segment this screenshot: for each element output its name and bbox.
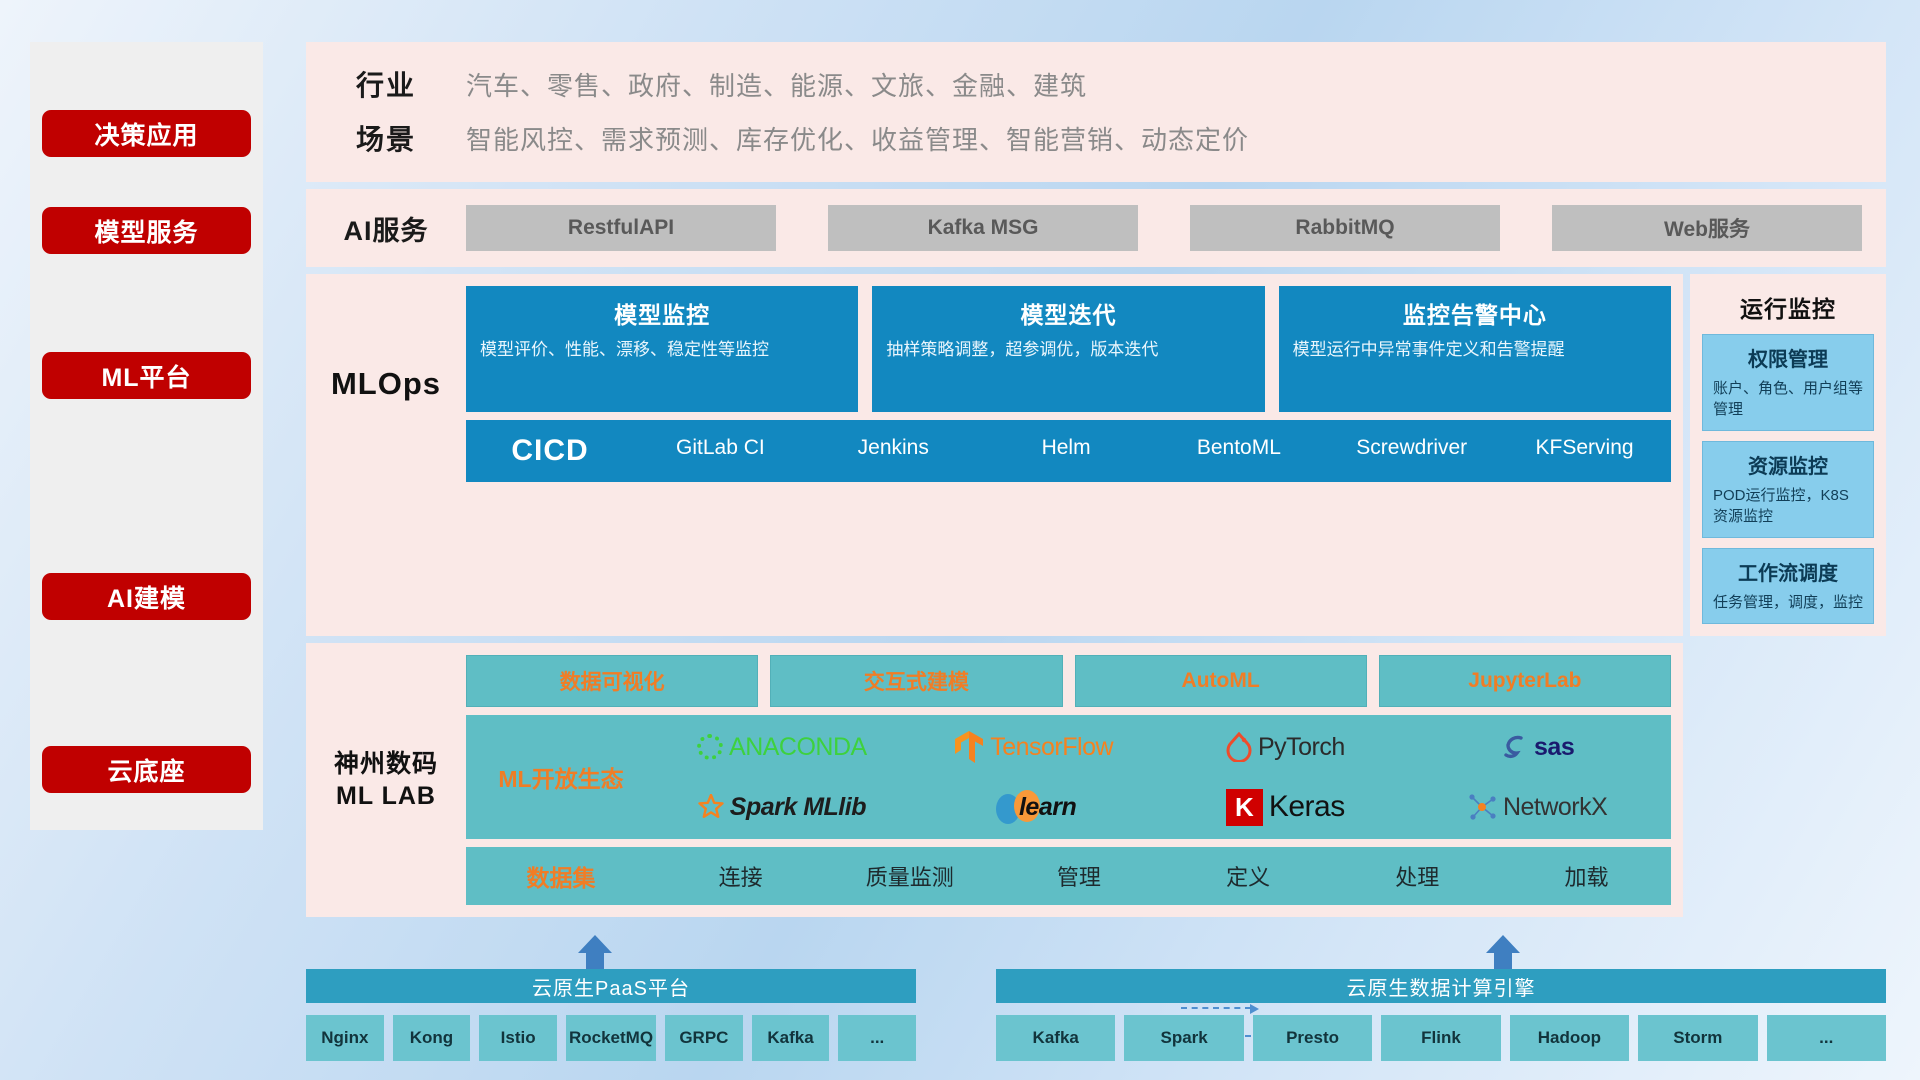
ai-service-chip-restfulapi[interactable]: RestfulAPI xyxy=(466,205,776,251)
monitor-card-resource[interactable]: 资源监控 POD运行监控，K8S资源监控 xyxy=(1702,441,1874,538)
ai-service-label: AI服务 xyxy=(306,209,466,248)
scenario-label: 场景 xyxy=(306,118,466,158)
networkx-graph-icon xyxy=(1467,792,1497,822)
monitor-column-spacer xyxy=(1690,643,1886,917)
rail-chip-decision-app[interactable]: 决策应用 xyxy=(42,110,251,157)
ai-service-band: AI服务 RestfulAPI Kafka MSG RabbitMQ Web服务 xyxy=(306,189,1886,267)
architecture-main: 行业 汽车、零售、政府、制造、能源、文旅、金融、建筑 场景 智能风控、需求预测、… xyxy=(306,42,1886,1075)
rail-chip-cloud-base[interactable]: 云底座 xyxy=(42,746,251,793)
cloud-chip-rocketmq[interactable]: RocketMQ xyxy=(566,1015,656,1061)
cicd-item-gitlab-ci[interactable]: GitLab CI xyxy=(634,420,807,462)
scikit-learn-logo: learn xyxy=(908,778,1160,836)
cloud-compute-group: 云原生数据计算引擎 Kafka Spark Presto Flink Hadoo… xyxy=(996,969,1886,1061)
anaconda-logo-text: ANACONDA xyxy=(729,733,867,762)
tensorflow-logo-text: TensorFlow xyxy=(990,733,1113,762)
ai-service-chip-rabbitmq[interactable]: RabbitMQ xyxy=(1190,205,1500,251)
ml-ecosystem-row: ML开放生态 ANACONDA Ten xyxy=(466,715,1671,839)
arrow-head xyxy=(578,935,612,953)
anaconda-logo: ANACONDA xyxy=(656,718,908,776)
runtime-monitor-band: 运行监控 权限管理 账户、角色、用户组等管理 资源监控 POD运行监控，K8S资… xyxy=(1690,274,1886,636)
dataset-label: 数据集 xyxy=(466,859,656,893)
decision-app-band: 行业 汽车、零售、政府、制造、能源、文旅、金融、建筑 场景 智能风控、需求预测、… xyxy=(306,42,1886,182)
mlops-card-alert-center[interactable]: 监控告警中心 模型运行中异常事件定义和告警提醒 xyxy=(1279,286,1671,412)
card-desc: POD运行监控，K8S资源监控 xyxy=(1713,485,1863,527)
cicd-bar: CICD GitLab CI Jenkins Helm BentoML Scre… xyxy=(466,420,1671,482)
dataset-item-quality-monitor[interactable]: 质量监测 xyxy=(825,860,994,892)
monitor-title: 运行监控 xyxy=(1702,284,1874,334)
ai-service-chip-kafka-msg[interactable]: Kafka MSG xyxy=(828,205,1138,251)
mlops-label: MLOps xyxy=(306,286,466,482)
cicd-item-kfserving[interactable]: KFServing xyxy=(1498,420,1671,462)
tensorflow-logo: TensorFlow xyxy=(908,718,1160,776)
keras-k-icon: K xyxy=(1226,789,1263,826)
card-title: 工作流调度 xyxy=(1713,557,1863,586)
ai-service-items: RestfulAPI Kafka MSG RabbitMQ Web服务 xyxy=(466,205,1886,251)
ml-lab-band: 神州数码 ML LAB 数据可视化 交互式建模 AutoML JupyterLa… xyxy=(306,643,1683,917)
sas-logo-text: sas xyxy=(1534,733,1574,762)
pytorch-flame-icon xyxy=(1226,732,1252,762)
dataset-item-process[interactable]: 处理 xyxy=(1333,860,1502,892)
mlops-card-model-monitoring[interactable]: 模型监控 模型评价、性能、漂移、稳定性等监控 xyxy=(466,286,858,412)
pytorch-logo: PyTorch xyxy=(1160,718,1412,776)
dataset-item-define[interactable]: 定义 xyxy=(1164,860,1333,892)
card-title: 监控告警中心 xyxy=(1293,296,1657,330)
spark-mllib-logo: Spark MLlib xyxy=(656,778,908,836)
card-desc: 任务管理，调度，监控 xyxy=(1713,592,1863,613)
tab-jupyterlab[interactable]: JupyterLab xyxy=(1379,655,1671,707)
cloud-chip-grpc[interactable]: GRPC xyxy=(665,1015,743,1061)
rail-slot: 决策应用 模型服务 ML平台 AI建模 云底座 xyxy=(30,42,263,830)
cicd-label: CICD xyxy=(466,420,634,482)
card-title: 资源监控 xyxy=(1713,450,1863,479)
mlops-cards: 模型监控 模型评价、性能、漂移、稳定性等监控 模型迭代 抽样策略调整，超参调优，… xyxy=(466,286,1671,412)
scenario-values: 智能风控、需求预测、库存优化、收益管理、智能营销、动态定价 xyxy=(466,120,1249,157)
sas-logo: sas xyxy=(1411,718,1663,776)
arrow-up-compute xyxy=(1486,935,1520,971)
spark-logo-text: Spark MLlib xyxy=(730,793,866,822)
sas-swirl-icon xyxy=(1500,733,1528,761)
cloud-chip-kong[interactable]: Kong xyxy=(393,1015,471,1061)
cloud-chip-storm[interactable]: Storm xyxy=(1638,1015,1757,1061)
cloud-paas-group: 云原生PaaS平台 Nginx Kong Istio RocketMQ GRPC… xyxy=(306,969,916,1061)
cloud-chip-more-right[interactable]: ... xyxy=(1767,1015,1886,1061)
cloud-chip-hadoop[interactable]: Hadoop xyxy=(1510,1015,1629,1061)
card-desc: 账户、角色、用户组等管理 xyxy=(1713,378,1863,420)
scikit-learn-logo-text: learn xyxy=(1019,793,1076,822)
ml-lab-label-line1: 神州数码 xyxy=(334,748,438,781)
cloud-chip-spark[interactable]: Spark xyxy=(1124,1015,1243,1061)
cloud-chip-kafka-left[interactable]: Kafka xyxy=(752,1015,830,1061)
cicd-item-screwdriver[interactable]: Screwdriver xyxy=(1325,420,1498,462)
pytorch-logo-text: PyTorch xyxy=(1258,733,1345,762)
cloud-chip-flink[interactable]: Flink xyxy=(1381,1015,1500,1061)
card-desc: 模型评价、性能、漂移、稳定性等监控 xyxy=(480,338,844,363)
ml-lab-tabs: 数据可视化 交互式建模 AutoML JupyterLab xyxy=(466,655,1671,707)
cloud-paas-title: 云原生PaaS平台 xyxy=(306,969,916,1003)
ml-ecosystem-label: ML开放生态 xyxy=(466,760,656,794)
stack-layer-rail: 决策应用 模型服务 ML平台 AI建模 云底座 xyxy=(30,42,263,830)
cloud-chip-nginx[interactable]: Nginx xyxy=(306,1015,384,1061)
tab-automl[interactable]: AutoML xyxy=(1075,655,1367,707)
rail-chip-ml-platform[interactable]: ML平台 xyxy=(42,352,251,399)
card-desc: 抽样策略调整，超参调优，版本迭代 xyxy=(886,338,1250,363)
card-title: 模型迭代 xyxy=(886,296,1250,330)
rail-chip-ai-modeling[interactable]: AI建模 xyxy=(42,573,251,620)
keras-logo: K Keras xyxy=(1160,778,1412,836)
ai-service-chip-web-service[interactable]: Web服务 xyxy=(1552,205,1862,251)
dataset-row: 数据集 连接 质量监测 管理 定义 处理 加载 xyxy=(466,847,1671,905)
networkx-logo: NetworkX xyxy=(1411,778,1663,836)
industry-row: 行业 汽车、零售、政府、制造、能源、文旅、金融、建筑 xyxy=(306,64,1886,104)
cicd-item-helm[interactable]: Helm xyxy=(980,420,1153,462)
ml-lab-label-line2: ML LAB xyxy=(336,780,436,813)
cloud-compute-chips: Kafka Spark Presto Flink Hadoop Storm ..… xyxy=(996,1015,1886,1061)
ml-ecosystem-logos: ANACONDA TensorFlow xyxy=(656,718,1671,836)
keras-logo-text: Keras xyxy=(1269,790,1345,824)
mlops-card-model-iteration[interactable]: 模型迭代 抽样策略调整，超参调优，版本迭代 xyxy=(872,286,1264,412)
mlops-and-monitor-row: MLOps 模型监控 模型评价、性能、漂移、稳定性等监控 模型迭代 抽样策略调整… xyxy=(306,274,1886,636)
card-title: 权限管理 xyxy=(1713,343,1863,372)
mlops-band: MLOps 模型监控 模型评价、性能、漂移、稳定性等监控 模型迭代 抽样策略调整… xyxy=(306,274,1683,636)
cicd-item-bentoml[interactable]: BentoML xyxy=(1152,420,1325,462)
arrow-up-paas xyxy=(578,935,612,971)
cloud-base-row: 云原生PaaS平台 Nginx Kong Istio RocketMQ GRPC… xyxy=(306,935,1886,1075)
dataset-item-connect[interactable]: 连接 xyxy=(656,860,825,892)
cloud-chip-kafka-right[interactable]: Kafka xyxy=(996,1015,1115,1061)
industry-label: 行业 xyxy=(306,64,466,104)
cloud-paas-chips: Nginx Kong Istio RocketMQ GRPC Kafka ... xyxy=(306,1015,916,1061)
anaconda-ring-icon xyxy=(697,734,723,760)
arrow-head xyxy=(1486,935,1520,953)
monitor-card-workflow[interactable]: 工作流调度 任务管理，调度，监控 xyxy=(1702,548,1874,624)
industry-values: 汽车、零售、政府、制造、能源、文旅、金融、建筑 xyxy=(466,66,1087,103)
cloud-chip-presto[interactable]: Presto xyxy=(1253,1015,1372,1061)
dataset-item-manage[interactable]: 管理 xyxy=(994,860,1163,892)
ml-lab-label: 神州数码 ML LAB xyxy=(306,655,466,905)
monitor-card-permission[interactable]: 权限管理 账户、角色、用户组等管理 xyxy=(1702,334,1874,431)
tab-data-visualization[interactable]: 数据可视化 xyxy=(466,655,758,707)
ai-modeling-row: 神州数码 ML LAB 数据可视化 交互式建模 AutoML JupyterLa… xyxy=(306,643,1886,917)
spark-star-icon xyxy=(698,794,724,820)
card-desc: 模型运行中异常事件定义和告警提醒 xyxy=(1293,338,1657,363)
cloud-chip-istio[interactable]: Istio xyxy=(479,1015,557,1061)
tab-interactive-modeling[interactable]: 交互式建模 xyxy=(770,655,1062,707)
card-title: 模型监控 xyxy=(480,296,844,330)
dataset-item-load[interactable]: 加载 xyxy=(1502,860,1671,892)
scenario-row: 场景 智能风控、需求预测、库存优化、收益管理、智能营销、动态定价 xyxy=(306,118,1886,158)
cloud-chip-more-left[interactable]: ... xyxy=(838,1015,916,1061)
cicd-item-jenkins[interactable]: Jenkins xyxy=(807,420,980,462)
rail-chip-model-service[interactable]: 模型服务 xyxy=(42,207,251,254)
cloud-compute-title: 云原生数据计算引擎 xyxy=(996,969,1886,1003)
tensorflow-mark-icon xyxy=(954,730,984,764)
networkx-logo-text: NetworkX xyxy=(1503,793,1607,822)
